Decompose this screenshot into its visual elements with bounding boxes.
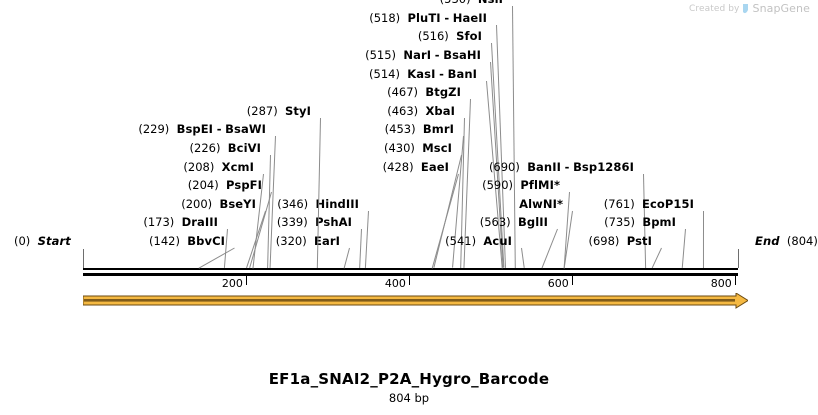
ruler-tick-label: 400	[385, 277, 406, 290]
site-position: (518)	[369, 11, 400, 25]
site-enzyme: StyI	[285, 104, 311, 118]
site-position: (541)	[445, 234, 476, 248]
restriction-site-label[interactable]: (463) XbaI	[387, 105, 455, 117]
snapgene-logo-icon	[742, 4, 749, 15]
site-enzyme: BglII	[518, 215, 548, 229]
backbone-line-bottom	[83, 273, 738, 276]
restriction-site-label[interactable]: (516) SfoI	[418, 30, 482, 42]
restriction-site-label[interactable]: (530) NsiI	[440, 0, 503, 5]
site-enzyme: PshAI	[315, 215, 352, 229]
snapgene-watermark: Created by SnapGene	[689, 2, 810, 15]
site-position: (530)	[440, 0, 471, 6]
restriction-site-label[interactable]: (563) BglII	[480, 216, 548, 228]
ruler-tick-label: 200	[222, 277, 243, 290]
restriction-site-label[interactable]: (518) PluTI - HaeII	[369, 12, 487, 24]
restriction-site-label[interactable]: (173) DraIII	[143, 216, 218, 228]
restriction-site-label[interactable]: (467) BtgZI	[387, 86, 461, 98]
site-enzyme: XcmI	[222, 160, 254, 174]
site-separator: -	[439, 67, 444, 81]
site-position: (339)	[277, 215, 308, 229]
site-position: (698)	[589, 234, 620, 248]
restriction-site-label[interactable]: (541) AcuI	[445, 235, 512, 247]
ruler-tick	[572, 276, 573, 285]
site-position: (761)	[604, 197, 635, 211]
start-label: (0) Start	[14, 235, 71, 247]
restriction-site-label[interactable]: (204) PspFI	[188, 179, 262, 191]
start-position: (0)	[14, 234, 30, 248]
sequence-map-canvas	[0, 0, 818, 415]
site-position: (516)	[418, 29, 449, 43]
site-position: (515)	[365, 48, 396, 62]
restriction-site-label[interactable]: (142) BbvCI	[149, 235, 225, 247]
restriction-site-label[interactable]: (287) StyI	[247, 105, 311, 117]
restriction-site-label[interactable]: (453) BmrI	[385, 123, 454, 135]
site-enzyme: SfoI	[456, 29, 482, 43]
site-position: (204)	[188, 178, 219, 192]
restriction-site-label[interactable]: (515) NarI - BsaHI	[365, 49, 481, 61]
site-position: (229)	[138, 122, 169, 136]
site-enzyme: KasI	[407, 67, 435, 81]
site-star: *	[557, 197, 563, 211]
site-enzyme: BseYI	[219, 197, 256, 211]
restriction-site-label[interactable]: (320) EarI	[276, 235, 340, 247]
ruler-tick-label: 600	[548, 277, 569, 290]
site-position: (200)	[181, 197, 212, 211]
restriction-site-label[interactable]: (200) BseYI	[181, 198, 256, 210]
site-enzyme: MscI	[422, 141, 452, 155]
site-enzyme: AcuI	[483, 234, 512, 248]
end-label: End (804)	[755, 235, 818, 247]
end-position: (804)	[787, 234, 818, 248]
site-enzyme-2: BsaHI	[443, 48, 481, 62]
site-enzyme: BmrI	[423, 122, 454, 136]
site-position: (428)	[383, 160, 414, 174]
ruler-tick	[246, 276, 247, 285]
restriction-site-label[interactable]: (226) BciVI	[190, 142, 261, 154]
backbone-line-top	[83, 268, 738, 270]
restriction-site-label[interactable]: (690) BanII - Bsp1286I	[489, 161, 634, 173]
site-enzyme: BspEI	[177, 122, 213, 136]
site-enzyme: XbaI	[425, 104, 455, 118]
site-enzyme-2: Bsp1286I	[573, 160, 634, 174]
site-enzyme: BanII	[527, 160, 561, 174]
site-star: *	[554, 178, 560, 192]
backbone-cap-end	[738, 249, 739, 268]
site-position: (563)	[480, 215, 511, 229]
site-position: (142)	[149, 234, 180, 248]
site-position: (320)	[276, 234, 307, 248]
site-enzyme: NarI	[403, 48, 431, 62]
sequence-title: EF1a_SNAI2_P2A_Hygro_Barcode	[0, 370, 818, 388]
site-position: (514)	[369, 67, 400, 81]
site-enzyme: PspFI	[226, 178, 262, 192]
start-name: Start	[38, 234, 71, 248]
site-enzyme: EaeI	[421, 160, 449, 174]
site-enzyme: HindIII	[315, 197, 359, 211]
site-enzyme: BciVI	[228, 141, 261, 155]
site-position: (690)	[489, 160, 520, 174]
site-position: (463)	[387, 104, 418, 118]
ruler-tick	[735, 276, 736, 285]
site-position: (430)	[384, 141, 415, 155]
site-position: (173)	[143, 215, 174, 229]
site-position: (735)	[604, 215, 635, 229]
site-enzyme: PstI	[627, 234, 652, 248]
site-separator: -	[444, 11, 449, 25]
restriction-site-label[interactable]: AlwNI*	[519, 198, 563, 210]
site-leader-line	[703, 211, 704, 268]
restriction-site-label[interactable]: (229) BspEI - BsaWI	[138, 123, 266, 135]
site-enzyme: EcoP15I	[642, 197, 694, 211]
watermark-prefix: Created by	[689, 4, 740, 14]
sequence-length: 804 bp	[0, 391, 818, 405]
watermark-brand: SnapGene	[752, 2, 810, 15]
site-enzyme: BbvCI	[187, 234, 225, 248]
restriction-site-label[interactable]: (514) KasI - BanI	[369, 68, 477, 80]
end-name: End	[755, 234, 780, 248]
restriction-site-label[interactable]: (208) XcmI	[183, 161, 254, 173]
ruler-tick	[409, 276, 410, 285]
site-enzyme: DraIII	[182, 215, 218, 229]
site-enzyme-2: BanI	[448, 67, 477, 81]
site-separator: -	[565, 160, 570, 174]
restriction-site-label[interactable]: (428) EaeI	[383, 161, 449, 173]
site-position: (287)	[247, 104, 278, 118]
site-enzyme: PflMI	[520, 178, 554, 192]
site-enzyme: PluTI	[407, 11, 440, 25]
restriction-site-label[interactable]: (761) EcoP15I	[604, 198, 694, 210]
title-block: EF1a_SNAI2_P2A_Hygro_Barcode 804 bp	[0, 370, 818, 405]
site-enzyme: AlwNI	[519, 197, 557, 211]
feature-arrow-shape	[83, 293, 748, 309]
restriction-site-label[interactable]: (339) PshAI	[277, 216, 352, 228]
site-separator: -	[217, 122, 222, 136]
restriction-site-label[interactable]: (735) BpmI	[604, 216, 676, 228]
restriction-site-label[interactable]: (430) MscI	[384, 142, 452, 154]
site-position: (453)	[385, 122, 416, 136]
site-position: (346)	[277, 197, 308, 211]
backbone-cap-start	[83, 249, 84, 268]
ruler-tick-label: 800	[711, 277, 732, 290]
site-enzyme: NsiI	[478, 0, 503, 6]
site-position: (208)	[183, 160, 214, 174]
restriction-site-label[interactable]: (698) PstI	[589, 235, 653, 247]
site-position: (590)	[482, 178, 513, 192]
restriction-site-label[interactable]: (590) PflMI*	[482, 179, 560, 191]
site-enzyme-2: HaeII	[453, 11, 487, 25]
site-separator: -	[435, 48, 440, 62]
site-enzyme: BtgZI	[425, 85, 461, 99]
site-enzyme: BpmI	[642, 215, 676, 229]
feature-arrow[interactable]	[83, 293, 748, 309]
site-position: (467)	[387, 85, 418, 99]
site-position: (226)	[190, 141, 221, 155]
site-enzyme-2: BsaWI	[225, 122, 266, 136]
